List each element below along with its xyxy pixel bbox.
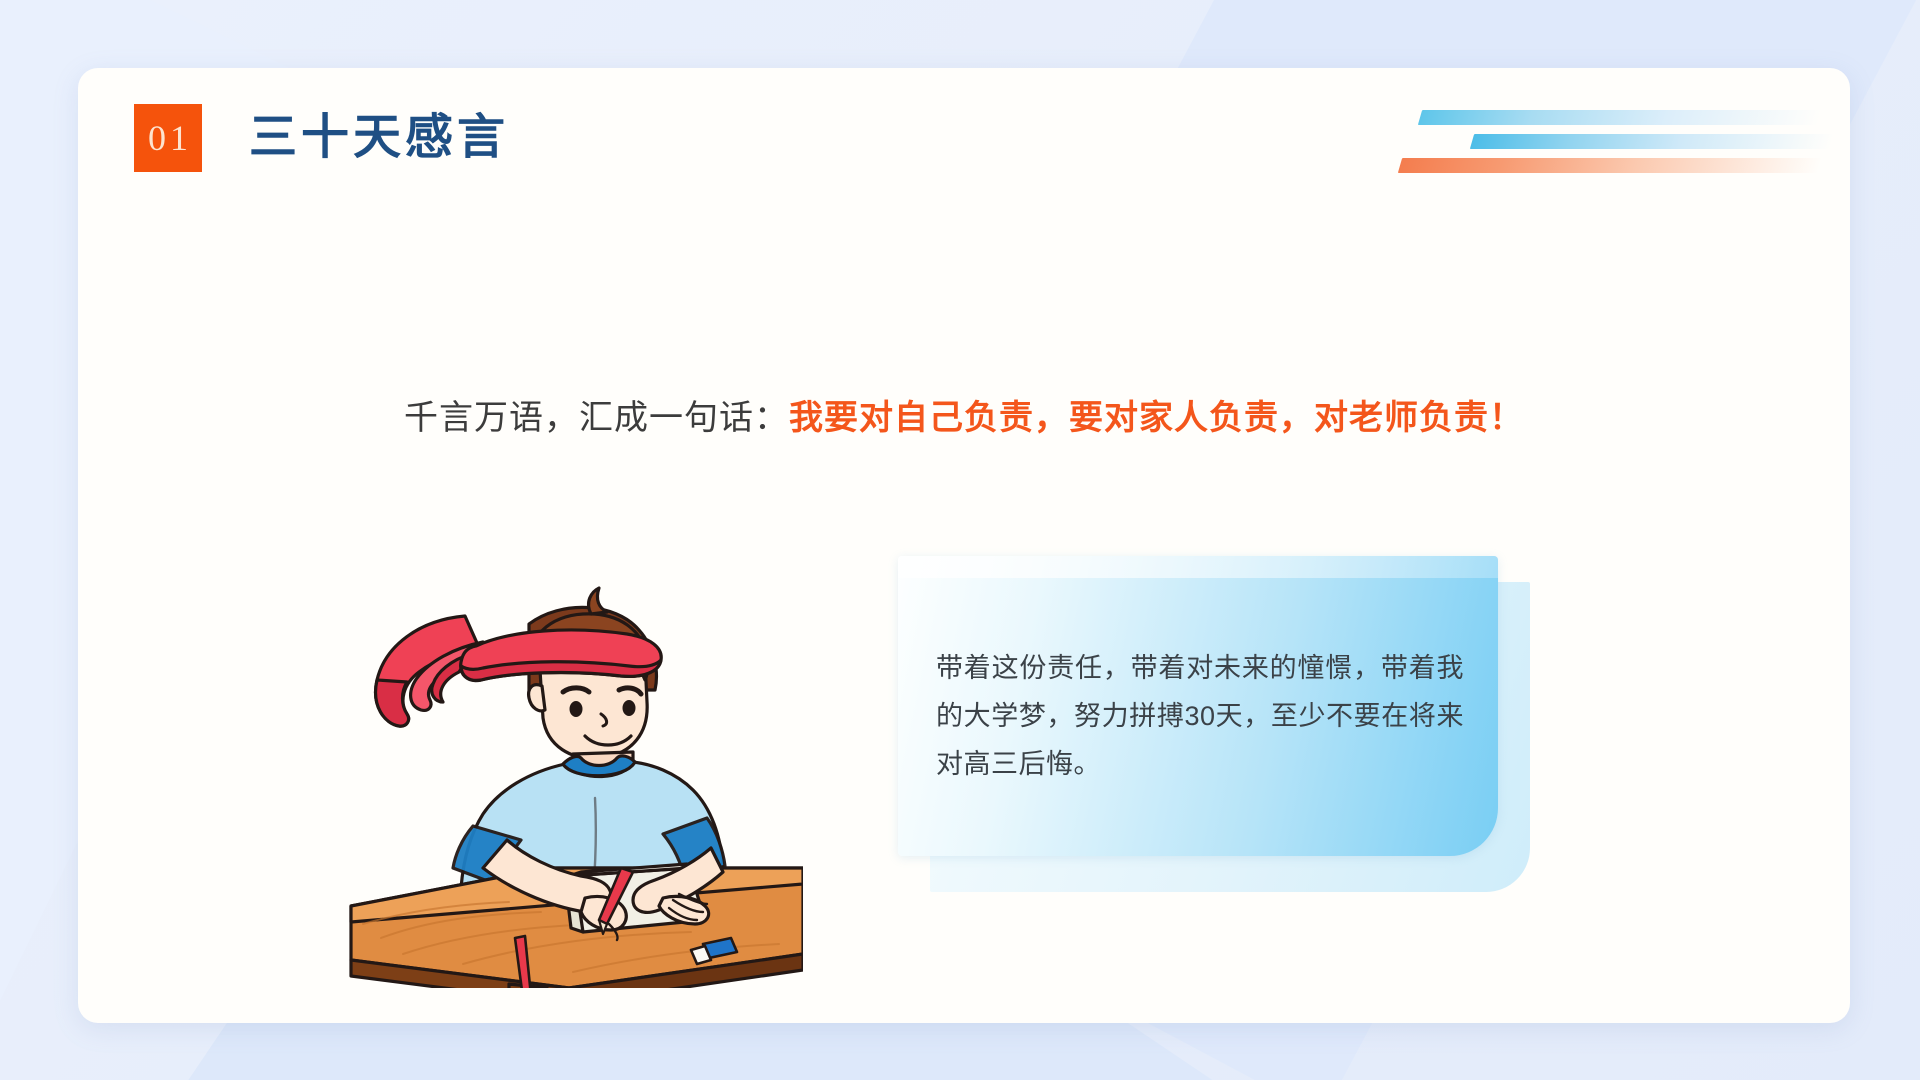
stripe-blue-1 <box>1418 110 1822 125</box>
quote-card-group: 带着这份责任，带着对未来的憧憬，带着我的大学梦，努力拼搏30天，至少不要在将来对… <box>898 556 1538 896</box>
slide-card: 01 三十天感言 千言万语，汇成一句话：我要对自己负责，要对家人负责，对老师负责… <box>78 68 1850 1023</box>
stripe-orange-1 <box>1398 158 1822 173</box>
quote-text: 带着这份责任，带着对未来的憧憬，带着我的大学梦，努力拼搏30天，至少不要在将来对… <box>936 644 1464 788</box>
slide-header: 01 三十天感言 <box>134 104 509 172</box>
headline-accent-text: 我要对自己负责，要对家人负责，对老师负责！ <box>789 399 1524 437</box>
headline: 千言万语，汇成一句话：我要对自己负责，要对家人负责，对老师负责！ <box>78 390 1850 439</box>
stripe-blue-2 <box>1470 134 1834 149</box>
page-title: 三十天感言 <box>249 114 509 162</box>
section-number-badge: 01 <box>134 104 202 172</box>
headline-plain-text: 千言万语，汇成一句话： <box>404 399 789 437</box>
quote-card: 带着这份责任，带着对未来的憧憬，带着我的大学梦，努力拼搏30天，至少不要在将来对… <box>898 556 1498 856</box>
student-writing-illustration <box>333 568 803 988</box>
decorative-stripes <box>1386 82 1850 192</box>
